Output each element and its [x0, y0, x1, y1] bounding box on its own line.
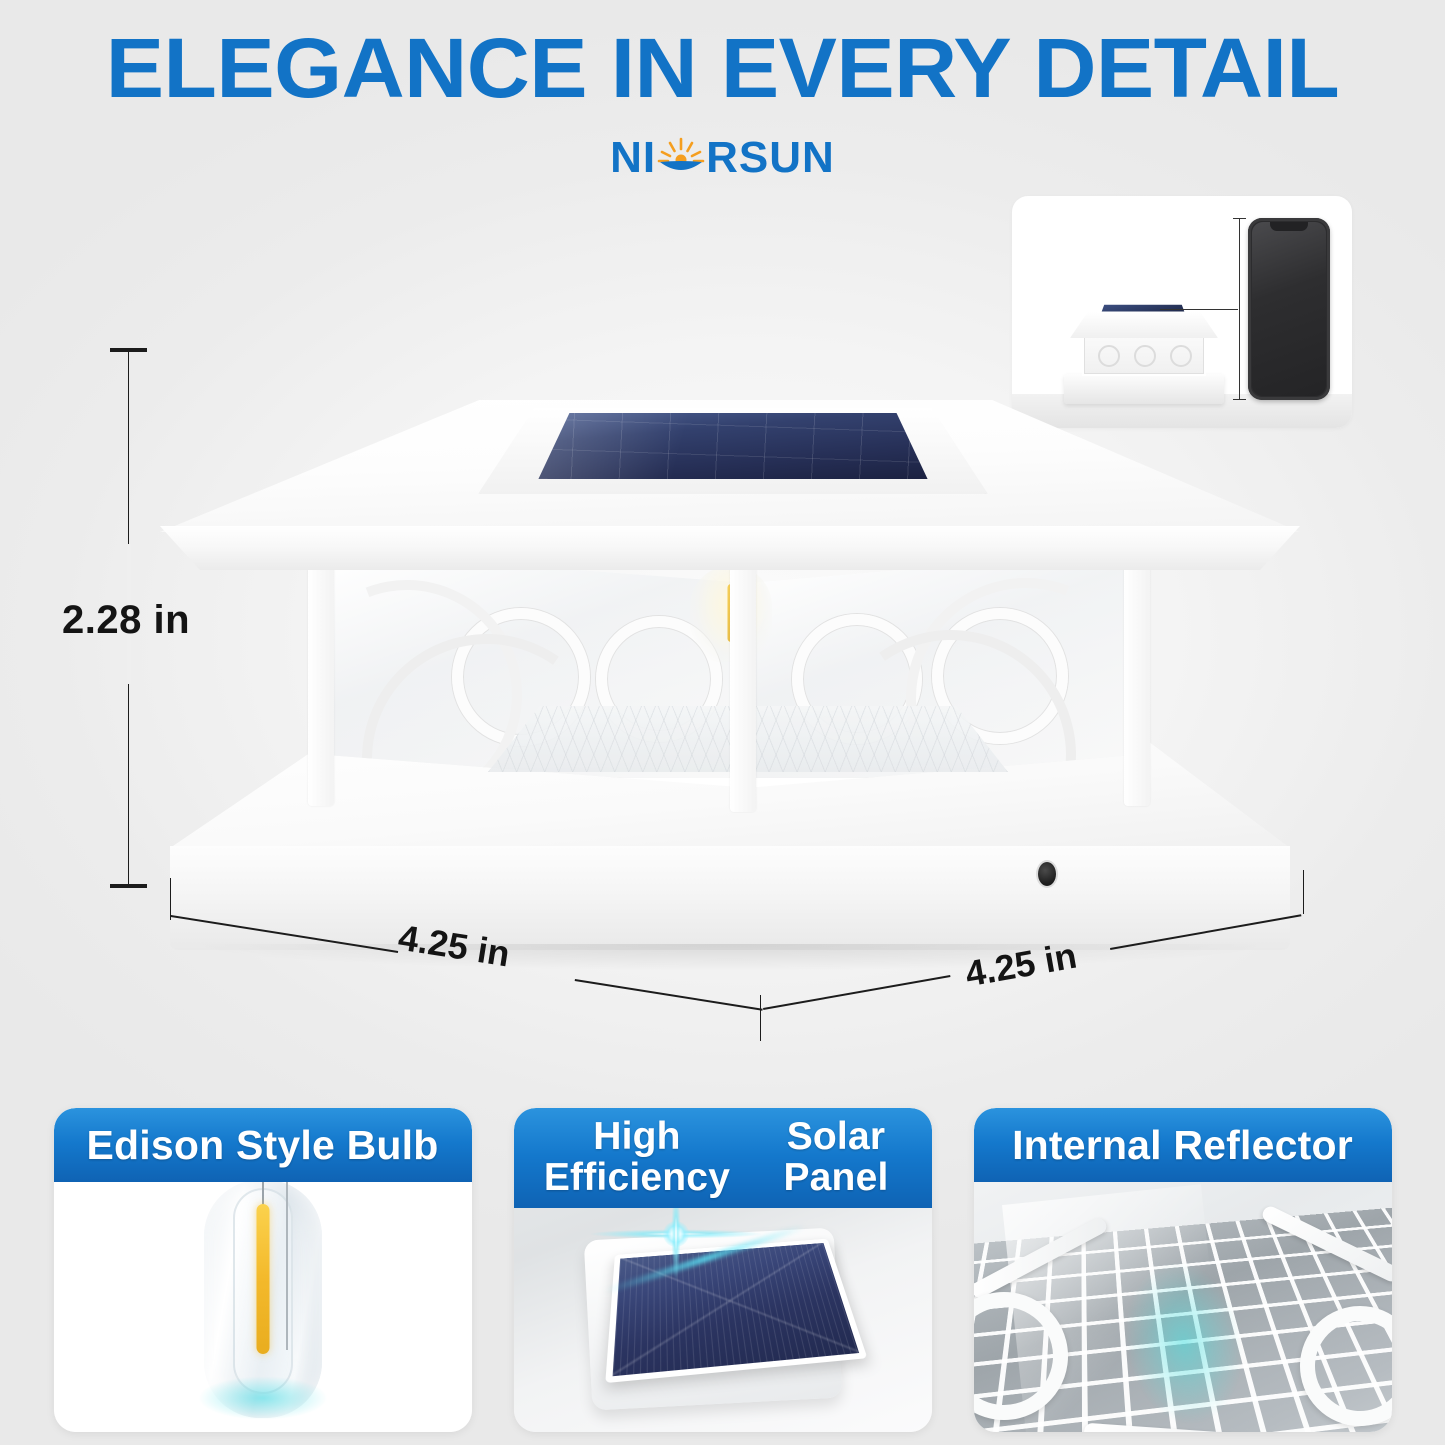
dimension-tick-left [170, 878, 171, 920]
feature-title-edison-style-bulb: Edison Style Bulb [54, 1108, 472, 1182]
bulb-lead-wire [286, 1182, 288, 1350]
feature-title-high-efficiency-solar-panel: High Efficiency Solar Panel [514, 1108, 932, 1208]
light-flare-icon [670, 1228, 682, 1240]
product-illustration [150, 330, 1300, 1050]
height-dimension-label: 2.28 in [62, 598, 190, 643]
power-switch-icon [1038, 862, 1056, 886]
brand-text-left: NI [610, 136, 656, 180]
feature-title-line-1: High Efficiency [524, 1117, 751, 1199]
solar-cell-sheen [526, 413, 940, 479]
flare-core [663, 1221, 689, 1247]
lattice-corner-post [1124, 544, 1150, 806]
lattice-corner-post [730, 530, 756, 812]
product-lattice-body [298, 530, 1162, 820]
brand-text-right: RSUN [706, 136, 835, 180]
leader-line [1160, 309, 1238, 310]
feature-title-internal-reflector: Internal Reflector [974, 1108, 1392, 1182]
feature-title-line-2: Solar Panel [750, 1117, 921, 1199]
feature-card-edison-style-bulb[interactable]: Edison Style Bulb [54, 1108, 472, 1432]
feature-card-high-efficiency-solar-panel[interactable]: High Efficiency Solar Panel [514, 1108, 932, 1432]
dimension-cap [110, 348, 147, 352]
solar-cell-cross [612, 1243, 859, 1376]
lattice-corner-post [308, 544, 334, 806]
dimension-tick-center [760, 995, 761, 1041]
bulb-filament [256, 1204, 269, 1354]
infographic-page: ELEGANCE IN EVERY DETAIL NI RSUN [0, 0, 1445, 1445]
base-shadow [200, 944, 1260, 970]
dimension-tick-right [1303, 870, 1304, 914]
solar-cell-surface [605, 1239, 867, 1383]
dimension-cap [110, 884, 147, 888]
product-roof [160, 400, 1300, 560]
roof-lip [160, 526, 1300, 570]
solar-panel [478, 408, 988, 494]
sun-icon [657, 136, 705, 180]
page-title: ELEGANCE IN EVERY DETAIL [0, 26, 1445, 110]
base-front-face [170, 846, 1290, 950]
feature-card-internal-reflector[interactable]: Internal Reflector [974, 1108, 1392, 1432]
brand-logo: NI RSUN [0, 136, 1445, 180]
solar-panel-cell [526, 413, 940, 479]
phone-notch [1270, 222, 1308, 231]
bulb-glow [198, 1376, 328, 1420]
feature-panels: Edison Style Bulb High Efficiency Solar … [0, 1108, 1445, 1438]
